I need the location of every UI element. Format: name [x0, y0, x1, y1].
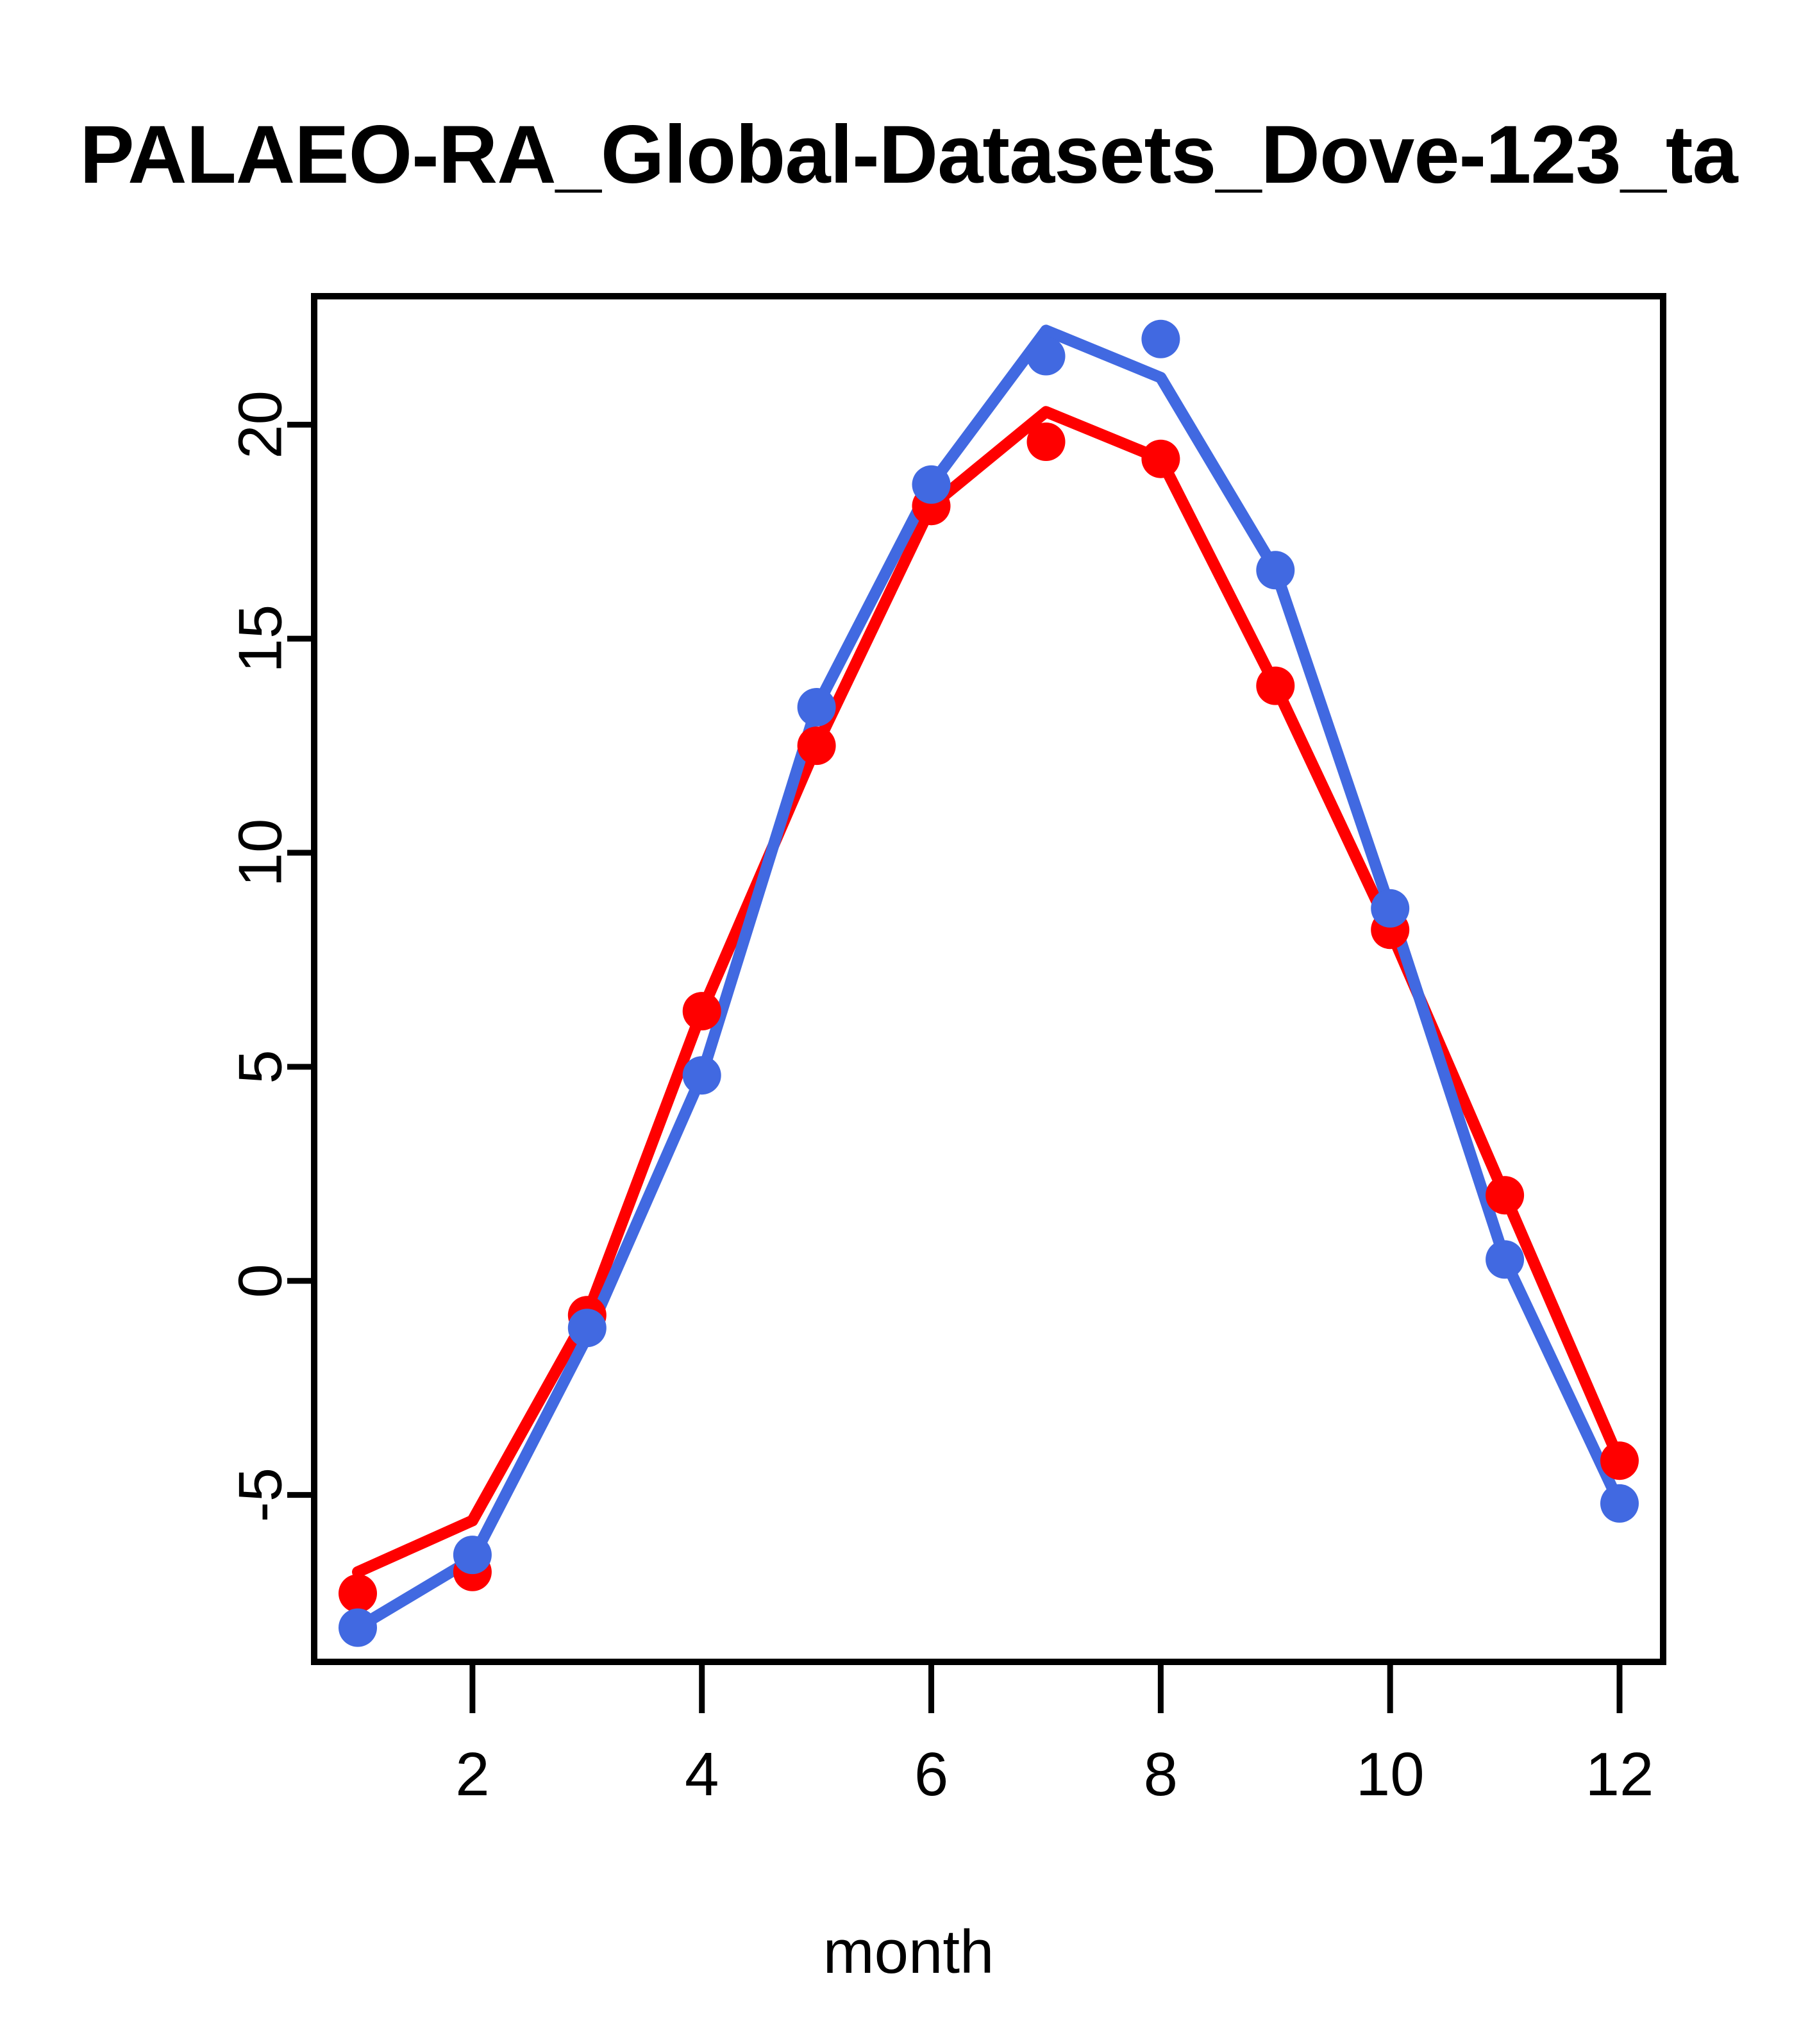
data-point-blue-series [568, 1309, 607, 1347]
axes-layer [287, 296, 1663, 1713]
y-tick-label: 10 [226, 819, 295, 887]
data-point-red-series [1486, 1176, 1524, 1214]
data-point-blue-series [453, 1536, 492, 1574]
y-tick-label: 0 [226, 1264, 295, 1298]
x-tick-label: 6 [914, 1740, 948, 1809]
data-point-blue-series [1371, 889, 1409, 928]
data-point-red-series [339, 1574, 377, 1613]
y-tick-label: -5 [226, 1468, 295, 1522]
plot-area: -50510152024681012 [0, 0, 1817, 2044]
data-point-red-series [1141, 440, 1180, 478]
data-point-red-series [798, 726, 836, 765]
y-tick-label: 20 [226, 390, 295, 459]
x-axis-title: month [0, 1917, 1817, 1988]
y-tick-label: 5 [226, 1050, 295, 1084]
chart-page: PALAEO-RA_Global-Datasets_Dove-123_ta -5… [0, 0, 1817, 2044]
series-line-red-series [358, 412, 1620, 1572]
tick-labels-layer: -50510152024681012 [226, 390, 1654, 1809]
series-layer [339, 320, 1639, 1647]
data-point-red-series [1256, 667, 1294, 705]
plot-border [314, 296, 1663, 1662]
data-point-red-series [1600, 1441, 1639, 1480]
data-point-blue-series [1027, 337, 1066, 376]
x-tick-label: 10 [1356, 1740, 1425, 1809]
data-point-red-series [683, 992, 721, 1030]
data-point-red-series [1027, 423, 1066, 461]
data-point-blue-series [339, 1609, 377, 1647]
data-point-blue-series [1486, 1240, 1524, 1278]
x-tick-label: 4 [685, 1740, 719, 1809]
data-point-blue-series [1600, 1484, 1639, 1523]
series-line-blue-series [358, 330, 1620, 1627]
x-tick-label: 8 [1144, 1740, 1178, 1809]
x-tick-label: 2 [455, 1740, 489, 1809]
x-tick-label: 12 [1586, 1740, 1654, 1809]
data-point-blue-series [912, 465, 951, 504]
data-point-blue-series [683, 1056, 721, 1094]
data-point-blue-series [1141, 320, 1180, 358]
data-point-blue-series [798, 688, 836, 726]
data-point-blue-series [1256, 551, 1294, 589]
y-tick-label: 15 [226, 605, 295, 673]
chart-svg: -50510152024681012 [0, 0, 1817, 2044]
